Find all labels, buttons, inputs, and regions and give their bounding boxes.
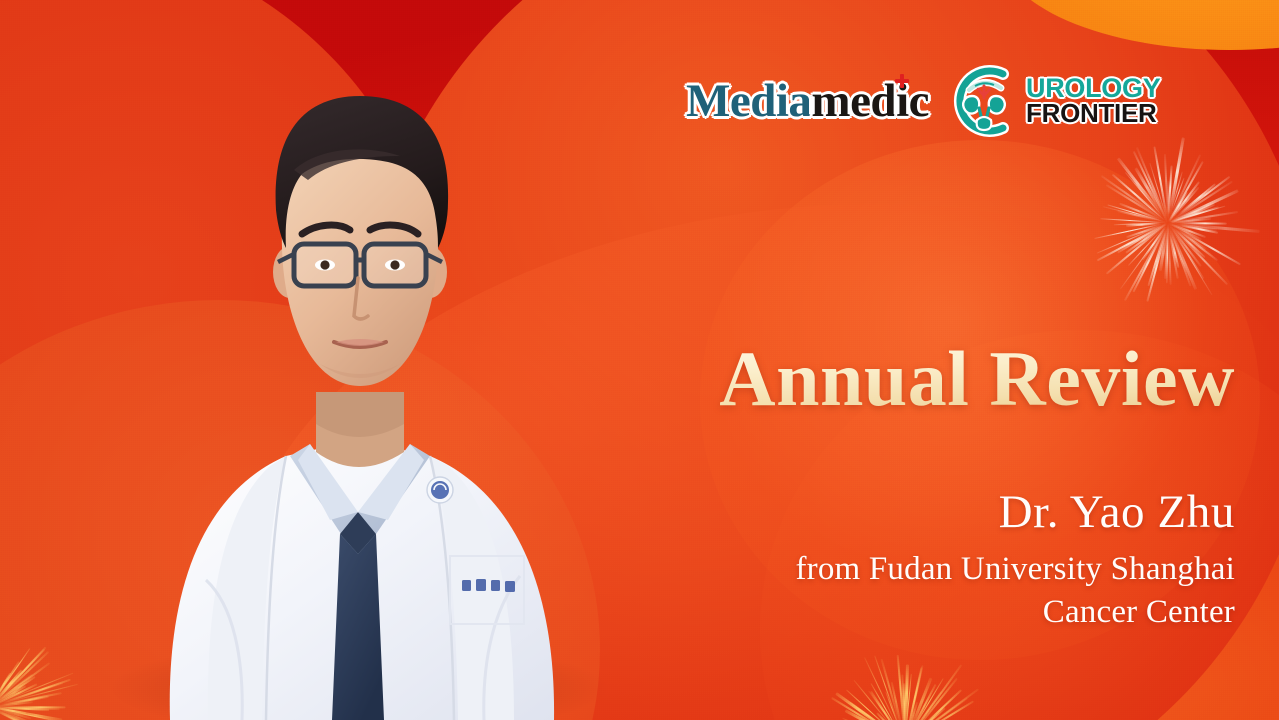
mediamedic-logo-part-2: med <box>811 75 896 127</box>
speaker-portrait <box>58 20 668 720</box>
urology-frontier-line-2: FRONTIER <box>1026 101 1160 126</box>
mediamedic-logo[interactable]: Mediamedic <box>686 78 929 125</box>
speaker-name: Dr. Yao Zhu <box>795 487 1235 538</box>
red-cross-icon <box>895 74 909 88</box>
urology-frontier-logo[interactable]: UROLOGY FRONTIER <box>947 64 1160 138</box>
kidney-arc-mark-icon <box>947 64 1021 138</box>
page-title: Annual Review <box>719 340 1235 418</box>
speaker-affiliation-line-1: from Fudan University Shanghai <box>795 551 1235 587</box>
mediamedic-logo-part-1: Media <box>686 75 811 127</box>
mediamedic-logo-i-with-cross: i <box>896 78 909 125</box>
brand-logo-row: Mediamedic <box>686 64 1160 138</box>
speaker-affiliation-line-2: Cancer Center <box>1043 594 1235 630</box>
speaker-block: Dr. Yao Zhu from Fudan University Shangh… <box>795 487 1235 635</box>
urology-frontier-wordmark: UROLOGY FRONTIER <box>1026 76 1160 127</box>
speaker-affiliation: from Fudan University Shanghai Cancer Ce… <box>795 548 1235 635</box>
mediamedic-logo-part-3: c <box>909 75 929 127</box>
title-card-slide: Mediamedic <box>0 0 1279 720</box>
coat-badge <box>427 477 453 503</box>
